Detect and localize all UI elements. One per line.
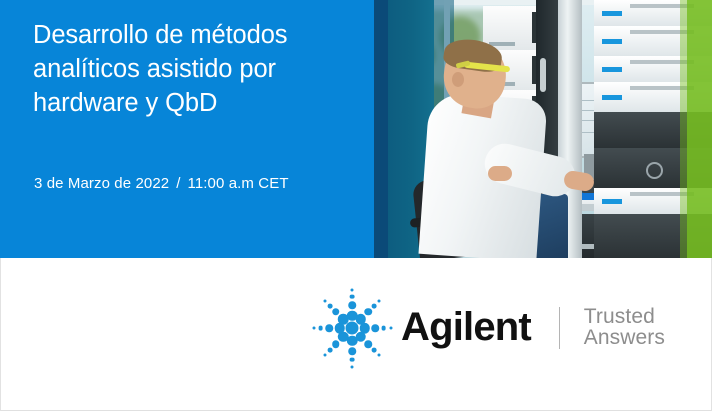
green-accent-strip [687, 0, 712, 258]
cabinet-handle [540, 58, 546, 92]
agilent-starburst-icon [311, 289, 393, 367]
webinar-title: Desarrollo de métodos analíticos asistid… [33, 18, 353, 120]
webinar-date: 3 de Marzo de 2022 [34, 175, 169, 192]
agilent-logo-lockup[interactable]: Agilent Trusted Answers [311, 292, 711, 364]
navy-divider-strip [374, 0, 388, 258]
agilent-wordmark: Agilent [401, 307, 531, 350]
hero-photo [388, 0, 712, 258]
logo-divider [559, 307, 560, 349]
webinar-time: 11:00 a.m CET [188, 175, 289, 192]
hero-section: Desarrollo de métodos analíticos asistid… [0, 0, 712, 258]
footer-section: Agilent Trusted Answers [0, 258, 712, 411]
green-accent-strip-soft [680, 0, 687, 258]
datetime-separator: / [169, 175, 187, 192]
webinar-datetime: 3 de Marzo de 2022/11:00 a.m CET [34, 175, 289, 192]
scientist-ear [452, 72, 464, 87]
agilent-tagline: Trusted Answers [584, 306, 711, 350]
scientist-hand-on-keyboard [488, 166, 512, 181]
webinar-banner: Desarrollo de métodos analíticos asistid… [0, 0, 712, 411]
